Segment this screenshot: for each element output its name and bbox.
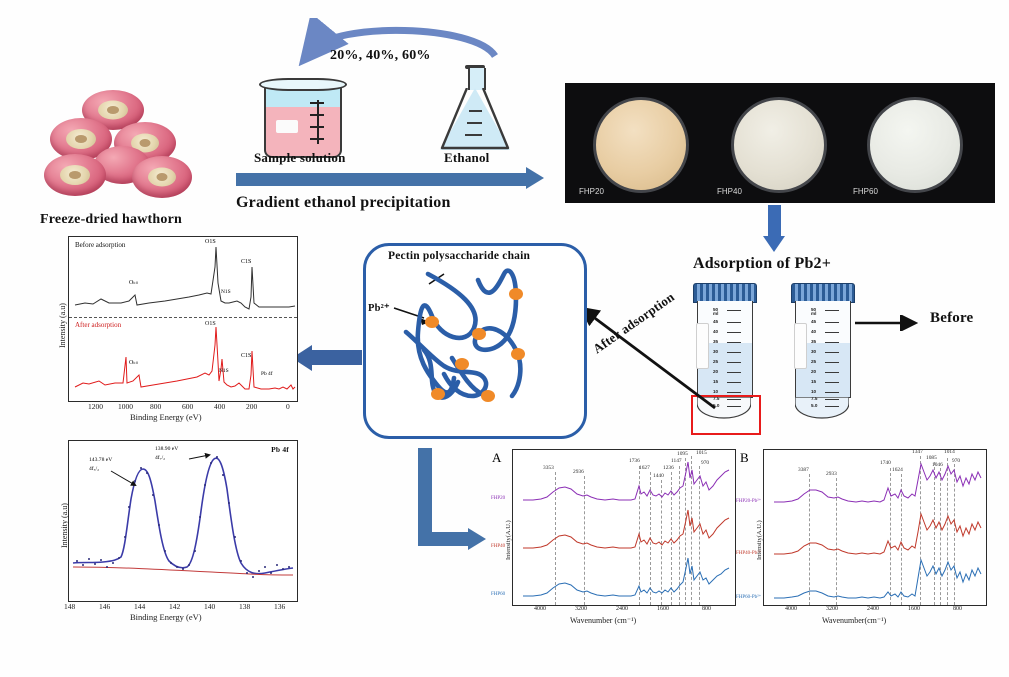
pectin-mechanism-box: Pectin polysaccharide chain Pb²⁺ — [363, 243, 587, 439]
gradient-precipitation-label: Gradient ethanol precipitation — [236, 194, 451, 212]
sample-dish-label-2: FHP60 — [853, 187, 878, 196]
ftir-panel-b-letter: B — [740, 450, 749, 466]
hawthorn-photo — [40, 88, 220, 208]
xps-peak-okll-after: Oₖₗₗ — [129, 359, 138, 366]
ftir-a-peak-5: 1236 — [663, 465, 674, 471]
hawthorn-caption: Freeze-dried hawthorn — [40, 212, 182, 228]
ftir-b-curves — [764, 450, 986, 605]
ftir-a-peak-3: 1627 — [639, 465, 650, 471]
pb4f-xtick-136: 136 — [274, 602, 285, 611]
ftir-a-xaxis-label: Wavenumber (cm⁻¹) — [570, 616, 636, 625]
pb4f-xtick-148: 148 — [64, 602, 75, 611]
ftir-a-series-1-label: FHP40 — [491, 544, 505, 549]
pb4f-xaxis-label: Binding Energy (eV) — [130, 612, 202, 622]
ftir-b-peak-2: 1740 — [880, 460, 891, 466]
xps-xtick-0: 0 — [286, 402, 290, 411]
ftir-a-peak-0: 3353 — [543, 465, 554, 471]
beaker-icon — [264, 68, 348, 160]
ftir-a-peak-1: 2936 — [573, 469, 584, 475]
beaker-label: Sample solution — [254, 150, 346, 166]
ftir-b-peak-3: 1624 — [892, 467, 903, 473]
ftir-b-yaxis-label: Intensity(A.U.) — [756, 520, 763, 560]
xps-survey-plot: Before adsorption After adsorption O1S C… — [68, 236, 298, 402]
xps-xtick-1000: 1000 — [118, 402, 133, 411]
ftir-a-peak-8: 1015 — [696, 450, 707, 456]
xps-peak-pb4f-after: Pb 4f — [261, 371, 273, 377]
ftir-b-xtick-0: 4000 — [785, 606, 797, 612]
pb4f-xtick-144: 144 — [134, 602, 145, 611]
ftir-a-peak-7: 1095 — [677, 451, 688, 457]
pb4f-xtick-146: 146 — [99, 602, 110, 611]
tube-cap-before — [791, 283, 855, 303]
ftir-a-series-0-label: FHP20 — [491, 496, 505, 501]
xps-peak-n1s-after: N1S — [219, 368, 229, 374]
ftir-a-yaxis-label: Intensity(A.U.) — [505, 520, 512, 560]
pb4f-xtick-138: 138 — [239, 602, 250, 611]
gradient-percent-label: 20%, 40%, 60% — [330, 48, 431, 64]
ftir-panel-a-plot: 3353 2936 1736 1627 1440 1236 1147 1095 … — [512, 449, 736, 606]
xps-peak-o1s-after: O1S — [205, 321, 216, 327]
ftir-b-xtick-1: 3200 — [826, 606, 838, 612]
xps-peak-c1s-after: C1S — [241, 353, 251, 359]
flask-label: Ethanol — [444, 150, 489, 166]
pb4f-plot: Pb 4f — [68, 440, 298, 602]
ftir-a-xtick-0: 4000 — [534, 606, 546, 612]
pb4f-annot-0-text: 143.78 eV — [89, 457, 112, 463]
ftir-a-xtick-4: 800 — [702, 606, 711, 612]
ftir-b-peak-1: 2933 — [826, 471, 837, 477]
ftir-panel-a-letter: A — [492, 450, 501, 466]
ftir-panel-b-plot: 3387 2933 1740 1624 1347 1085 1046 1014 … — [763, 449, 987, 606]
pb4f-annot-0-sub: 4f₅/₂ — [89, 466, 99, 472]
xps-xtick-200: 200 — [246, 402, 257, 411]
xps-xtick-600: 600 — [182, 402, 193, 411]
pb4f-annot-1-sub: 4f₇/₂ — [155, 455, 165, 461]
ftir-b-peak-4: 1347 — [912, 449, 923, 455]
xps-peak-n1s-before: N1S — [221, 289, 231, 295]
ftir-b-peak-7: 1014 — [944, 449, 955, 455]
ftir-a-peak-2: 1736 — [629, 458, 640, 464]
ftir-a-curves — [513, 450, 735, 605]
xps-peak-okll-before: Oₖₗₗ — [129, 279, 138, 286]
pb4f-xtick-140: 140 — [204, 602, 215, 611]
sample-dish-label-0: FHP20 — [579, 187, 604, 196]
ftir-a-xtick-3: 1600 — [657, 606, 669, 612]
pectin-chain-drawing — [366, 246, 578, 430]
before-pointer-arrow — [855, 315, 927, 331]
flask-outline — [440, 88, 510, 150]
pb4f-curves — [69, 441, 297, 601]
ftir-b-xtick-4: 800 — [953, 606, 962, 612]
sample-photo-strip: FHP20 FHP40 FHP60 — [565, 83, 995, 203]
xps-peak-c1s-before: C1S — [241, 259, 251, 265]
sample-dish-0 — [593, 97, 689, 193]
adsorption-title: Adsorption of Pb2+ — [693, 255, 831, 273]
xps-peak-o1s-before: O1S — [205, 239, 216, 245]
ftir-a-peak-4: 1440 — [653, 473, 664, 479]
ftir-b-peak-5: 1085 — [926, 455, 937, 461]
pb4f-annot-1-text: 138.90 eV — [155, 446, 178, 452]
xps-xtick-400: 400 — [214, 402, 225, 411]
before-label: Before — [930, 310, 973, 327]
xps-xtick-1200: 1200 — [88, 402, 103, 411]
ftir-b-peak-8: 970 — [952, 458, 960, 464]
flask-icon — [440, 62, 510, 154]
pb4f-xtick-142: 142 — [169, 602, 180, 611]
ftir-a-peak-9: 970 — [701, 460, 709, 466]
pb4f-yaxis-label: Intensity (a.u) — [60, 503, 69, 548]
ftir-b-series-2-label: FHP60-Pb²⁺ — [736, 594, 761, 600]
ftir-a-peak-6: 1147 — [671, 458, 682, 464]
ftir-a-xtick-2: 2400 — [616, 606, 628, 612]
ftir-b-peak-0: 3387 — [798, 467, 809, 473]
tube-tip-before — [795, 397, 849, 419]
ftir-b-peak-6: 1046 — [932, 462, 943, 468]
ftir-b-xaxis-label: Wavenumber(cm⁻¹) — [822, 616, 886, 625]
graphical-abstract-canvas: Freeze-dried hawthorn 20%, 40%, 60% Samp… — [0, 0, 1009, 677]
xps-xaxis-label: Binding Energy (eV) — [130, 412, 202, 422]
ftir-b-xtick-3: 1600 — [908, 606, 920, 612]
ftir-b-xtick-2: 2400 — [867, 606, 879, 612]
ftir-a-xtick-1: 3200 — [575, 606, 587, 612]
centrifuge-tube-before: 50 ml 45 40 35 30 25 20 15 10 7.5 5.0 — [791, 283, 853, 425]
sample-dish-1 — [731, 97, 827, 193]
ftir-a-series-2-label: FHP60 — [491, 592, 505, 597]
xps-yaxis-label: Intensity (a.u) — [58, 303, 67, 348]
xps-xtick-800: 800 — [150, 402, 161, 411]
ftir-b-series-0-label: FHP20-Pb²⁺ — [736, 498, 761, 504]
sample-dish-label-1: FHP40 — [717, 187, 742, 196]
sample-dish-2 — [867, 97, 963, 193]
